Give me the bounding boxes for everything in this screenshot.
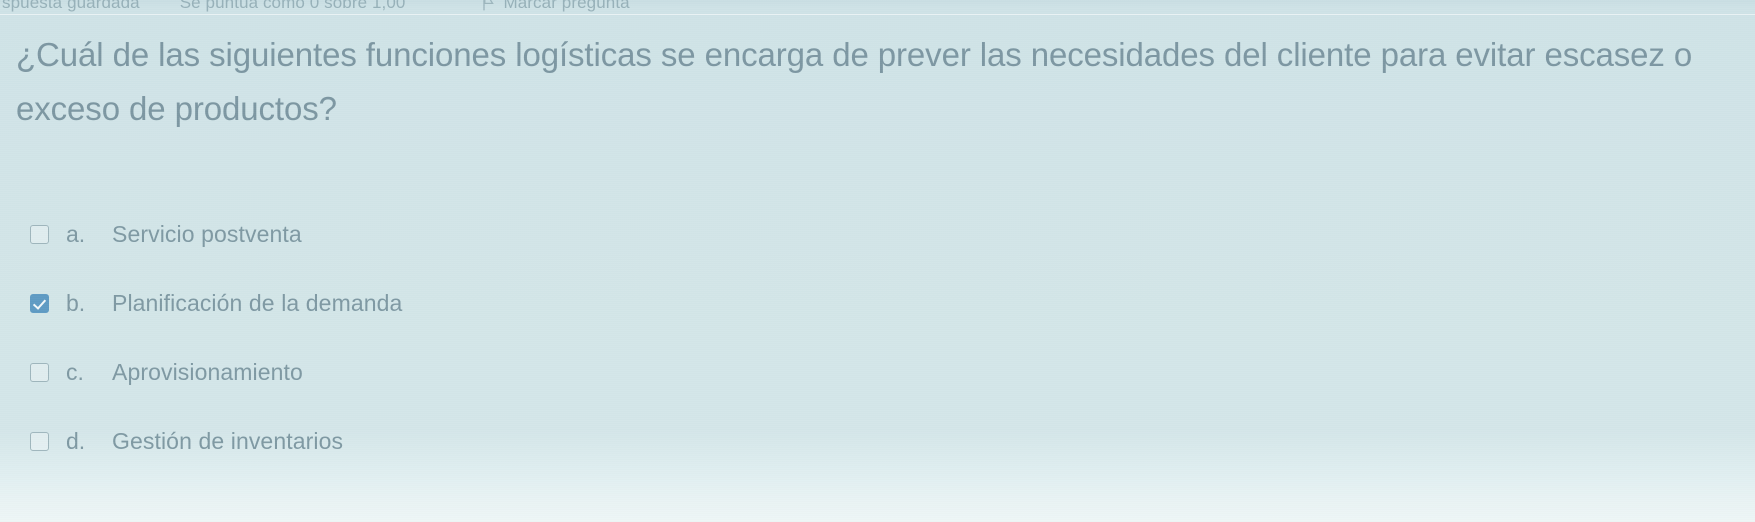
option-letter-d: d. [66, 428, 96, 455]
answer-option-d[interactable]: d. Gestión de inventarios [30, 407, 930, 476]
status-divider [0, 14, 1755, 15]
answer-saved-status: spuesta guardada [2, 0, 140, 13]
checkbox-a[interactable] [30, 225, 49, 244]
checkbox-d[interactable] [30, 432, 49, 451]
checkbox-b[interactable] [30, 294, 49, 313]
question-text: ¿Cuál de las siguientes funciones logíst… [16, 28, 1755, 136]
option-letter-c: c. [66, 359, 96, 386]
checkbox-c[interactable] [30, 363, 49, 382]
option-label-b: Planificación de la demanda [112, 290, 402, 317]
grade-status: Se puntúa como 0 sobre 1,00 [180, 0, 406, 13]
answer-option-c[interactable]: c. Aprovisionamiento [30, 338, 930, 407]
option-label-c: Aprovisionamiento [112, 359, 303, 386]
flag-question-button[interactable]: Marcar pregunta [483, 0, 629, 13]
option-label-a: Servicio postventa [112, 221, 302, 248]
question-status-bar: spuesta guardada Se puntúa como 0 sobre … [0, 0, 1755, 14]
answer-option-b[interactable]: b. Planificación de la demanda [30, 269, 930, 338]
quiz-question-screen: spuesta guardada Se puntúa como 0 sobre … [0, 0, 1755, 522]
option-label-d: Gestión de inventarios [112, 428, 343, 455]
option-letter-b: b. [66, 290, 96, 317]
answer-option-a[interactable]: a. Servicio postventa [30, 200, 930, 269]
option-letter-a: a. [66, 221, 96, 248]
flag-icon [483, 0, 494, 11]
flag-question-label: Marcar pregunta [503, 0, 629, 13]
answer-options-list: a. Servicio postventa b. Planificación d… [30, 200, 930, 476]
